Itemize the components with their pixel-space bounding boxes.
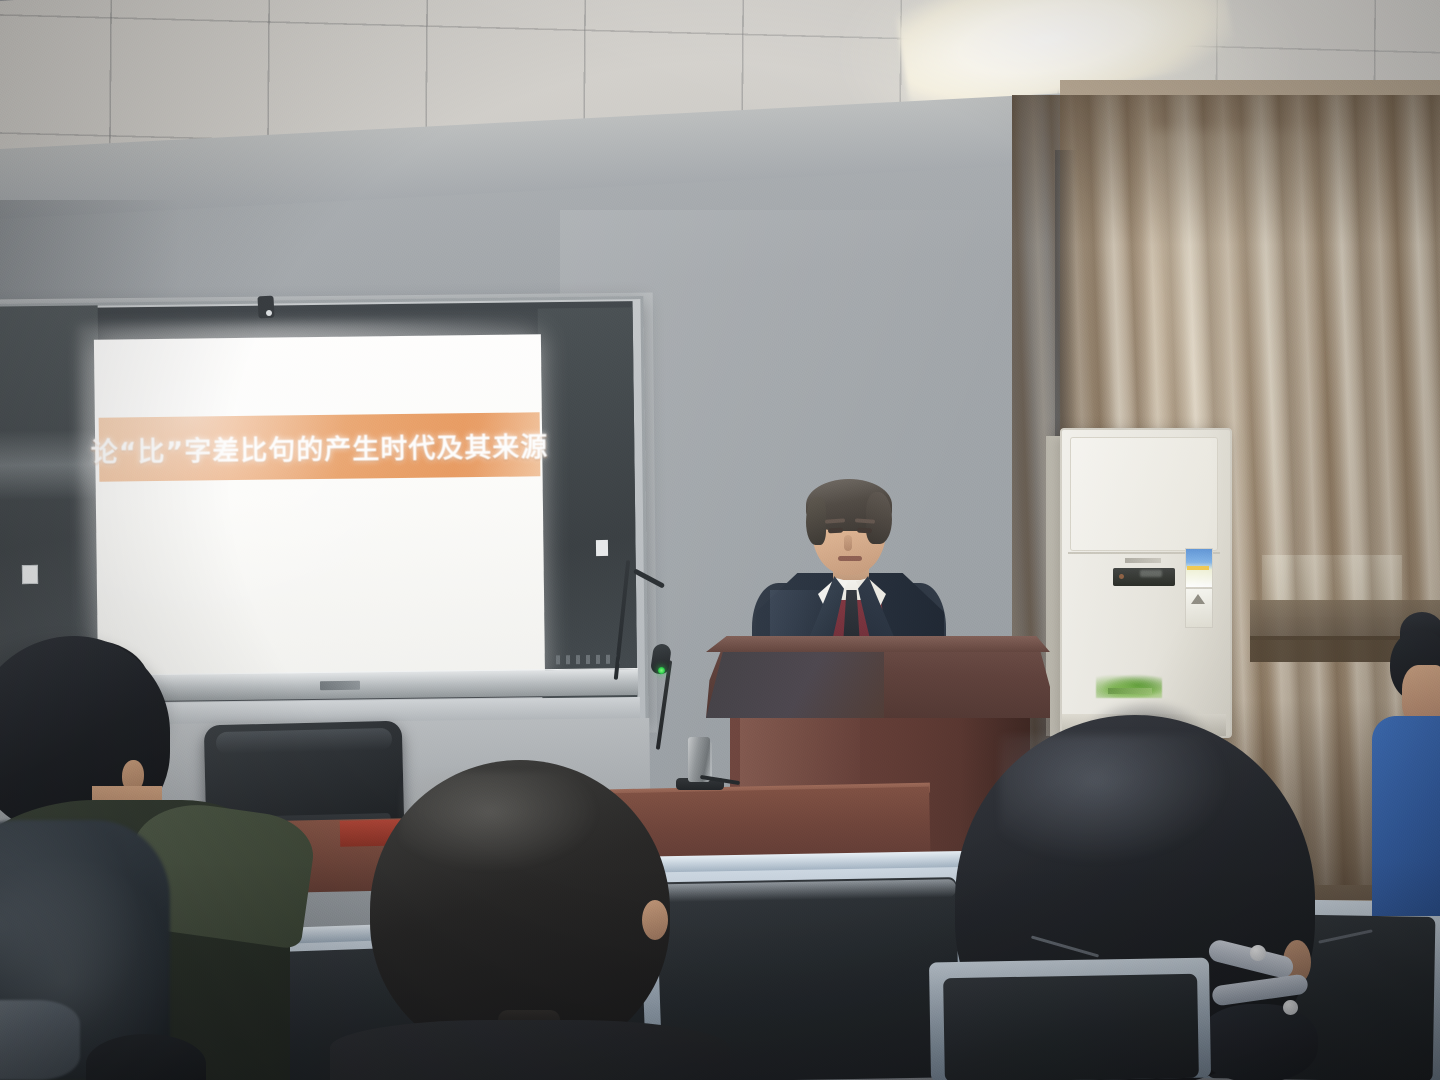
auditorium-seat-back[interactable] — [943, 974, 1199, 1080]
audience-member-scarf — [0, 1000, 80, 1080]
audience-member-hair-sheen — [1000, 735, 1230, 865]
air-conditioner-air-outlet-panel — [1070, 437, 1218, 551]
audience-member-hair-sheen — [400, 772, 600, 872]
audience-member-hair-bun — [1198, 1004, 1318, 1080]
speaker-eye-right — [857, 528, 872, 534]
whiteboard-sticker-left — [22, 565, 38, 584]
hair-tie-pearl-icon — [1250, 945, 1266, 961]
lectern-top-edge — [706, 636, 1050, 652]
air-conditioner-green-decal — [1096, 672, 1162, 698]
speaker-nose — [844, 535, 852, 551]
slide-title-banner: 论“比”字差比句的产生时代及其来源 — [99, 412, 541, 481]
air-conditioner-brand-logo — [1125, 558, 1161, 563]
whiteboard-camera-lens-icon — [266, 310, 272, 316]
air-conditioner-energy-label-bar — [1187, 566, 1209, 570]
lecture-hall-photo: 论“比”字差比句的产生时代及其来源 — [0, 0, 1440, 1080]
audience-member-blue-jacket — [1372, 716, 1440, 916]
whiteboard-brand-label — [320, 681, 360, 690]
air-conditioner-display-sheen — [1140, 570, 1162, 577]
hair-tie-pearl-icon — [1283, 1000, 1298, 1015]
lectern-top-shadowed — [706, 648, 884, 718]
speaker-hair-left — [806, 497, 826, 545]
audience-member-shoulders — [330, 1020, 730, 1080]
office-chair-highlight — [216, 728, 392, 754]
microphone-status-led-icon — [658, 667, 665, 674]
audience-member-ear — [642, 900, 668, 940]
air-conditioner-decal-text — [1108, 688, 1152, 694]
speaker-eye-left — [828, 528, 843, 534]
slide-title-text: 论“比”字差比句的产生时代及其来源 — [91, 425, 549, 470]
whiteboard-sticker-right — [596, 540, 608, 556]
speaker-hair-right — [866, 492, 892, 544]
speaker-mouth — [838, 556, 862, 561]
air-conditioner-arrow-icon — [1191, 594, 1205, 604]
air-conditioner-power-indicator-icon — [1119, 574, 1124, 579]
